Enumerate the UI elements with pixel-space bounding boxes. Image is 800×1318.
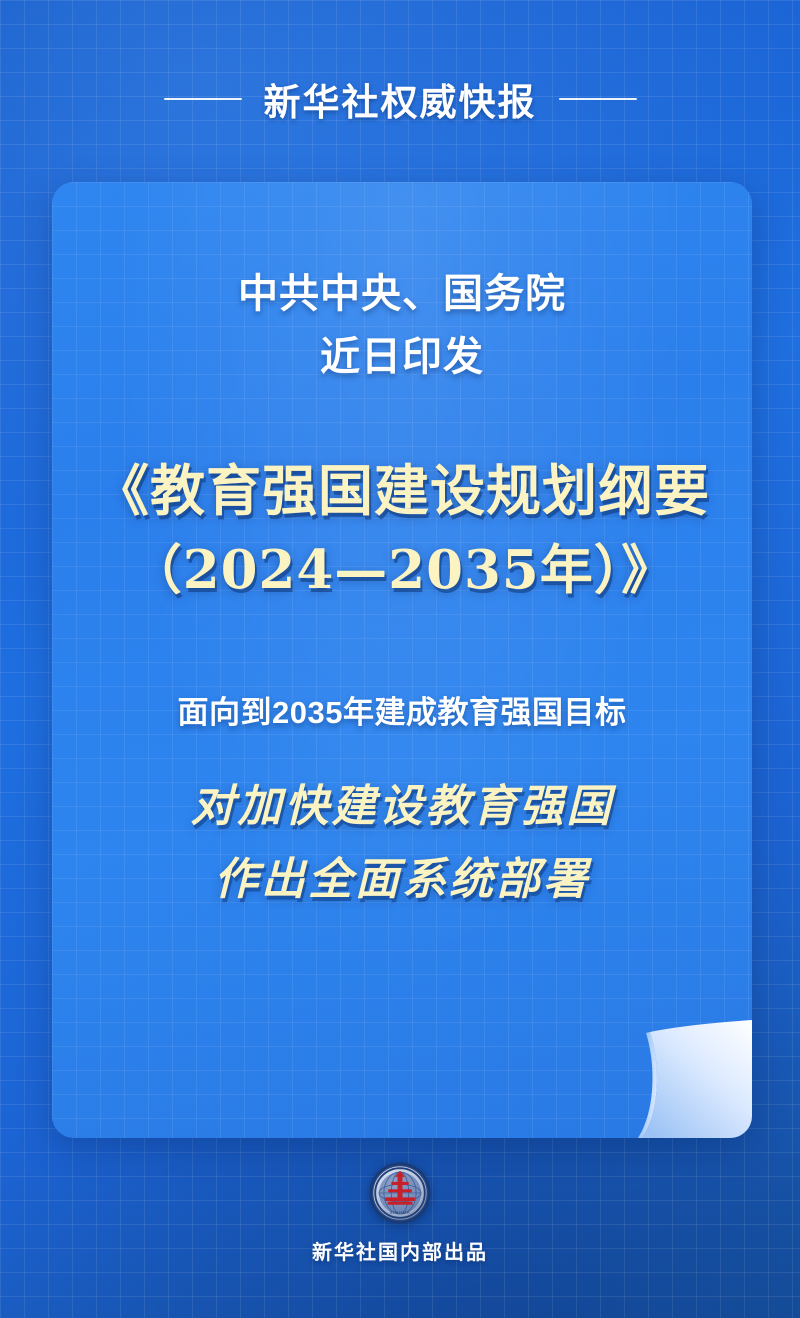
header-rule-right-icon xyxy=(559,98,637,100)
poster-root: 新华社权威快报 中共中央、国务院 近日印发 《教育强国建设规划纲要 （2024—… xyxy=(0,0,800,1318)
lede-line-1: 中共中央、国务院 xyxy=(82,264,722,325)
statement-line-1: 对加快建设教育强国 xyxy=(82,774,722,841)
document-title: 《教育强国建设规划纲要 （2024—2035年）》 xyxy=(82,450,722,610)
header-rule-left-icon xyxy=(164,98,242,100)
subline-goal: 面向到2035年建成教育强国目标 xyxy=(82,687,722,732)
footer: XINHUA 新华社国内部出品 xyxy=(0,1162,800,1265)
main-card: 中共中央、国务院 近日印发 《教育强国建设规划纲要 （2024—2035年）》 … xyxy=(52,182,752,1138)
document-title-line-1: 《教育强国建设规划纲要 xyxy=(82,450,722,531)
lede-block: 中共中央、国务院 近日印发 xyxy=(82,264,722,388)
lede-line-2: 近日印发 xyxy=(82,327,722,388)
statement-line-2: 作出全面系统部署 xyxy=(82,847,722,914)
svg-text:XINHUA: XINHUA xyxy=(390,1210,411,1215)
card-content: 中共中央、国务院 近日印发 《教育强国建设规划纲要 （2024—2035年）》 … xyxy=(52,182,752,1138)
xinhua-logo-icon: XINHUA xyxy=(369,1162,431,1224)
statement-block: 对加快建设教育强国 作出全面系统部署 xyxy=(82,774,722,914)
footer-credit: 新华社国内部出品 xyxy=(312,1236,488,1265)
header-banner: 新华社权威快报 xyxy=(0,62,800,136)
document-title-line-2: （2024—2035年）》 xyxy=(82,531,722,609)
header-title: 新华社权威快报 xyxy=(264,72,537,126)
